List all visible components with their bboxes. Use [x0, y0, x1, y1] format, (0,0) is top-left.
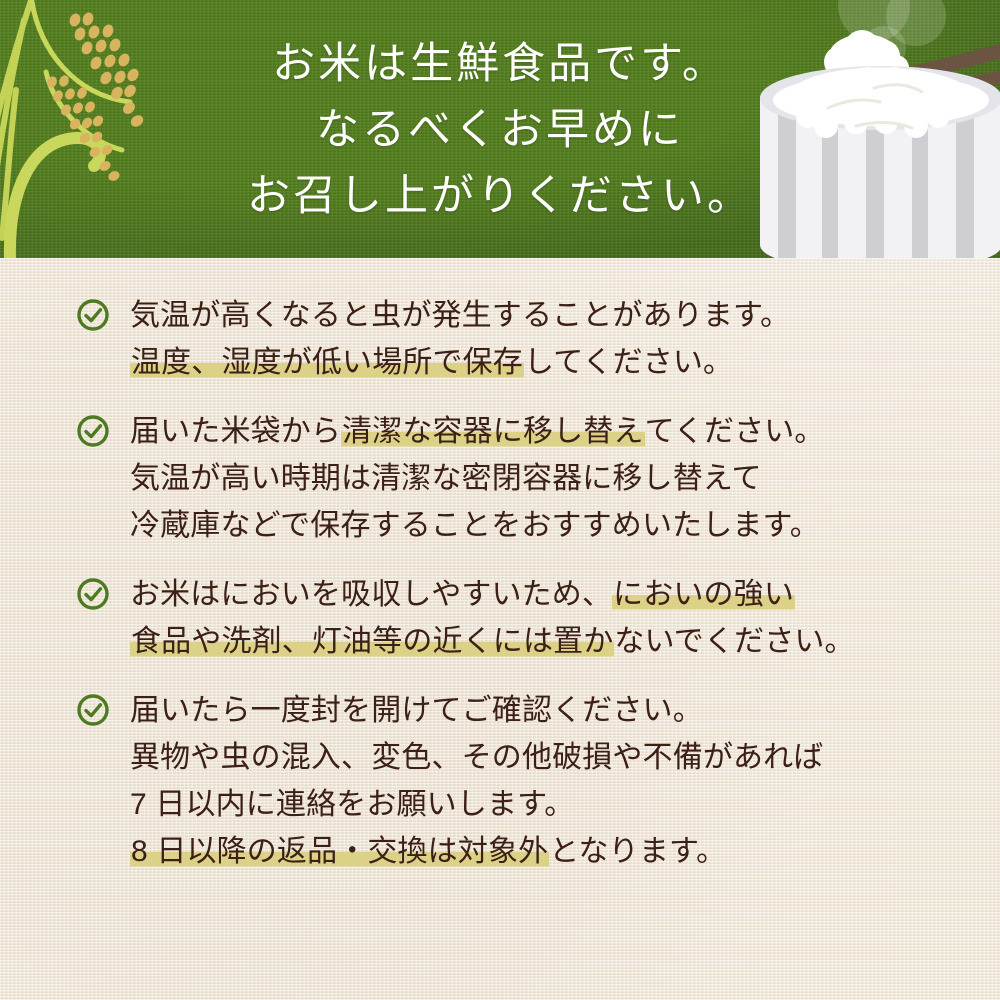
highlighted-text: 8 日以降の返品・交換は対象外	[130, 835, 549, 868]
title-line-3: お召し上がりください。	[210, 164, 790, 230]
title-line-1: お米は生鮮食品です。	[210, 32, 790, 98]
notice-list: 気温が高くなると虫が発生することがあります。温度、湿度が低い場所で保存してくださ…	[0, 258, 1000, 897]
plain-text: てください。	[645, 415, 825, 448]
notice-line: 冷蔵庫などで保存することをおすすめいたします。	[130, 502, 954, 549]
plain-text: 届いた米袋から	[130, 415, 341, 448]
notice-item: お米はにおいを吸収しやすいため、においの強い食品や洗剤、灯油等の近くには置かない…	[76, 571, 954, 665]
plain-text: 異物や虫の混入、変色、その他破損や不備があれば	[130, 741, 823, 774]
check-circle-icon	[76, 298, 110, 332]
check-circle-icon	[76, 414, 110, 448]
plain-text: 7 日以内に連絡をお願いします。	[130, 788, 574, 821]
notice-line: 食品や洗剤、灯油等の近くには置かないでください。	[130, 618, 954, 665]
highlighted-text: 清潔な容器に移し替え	[341, 415, 645, 448]
check-circle-icon	[76, 577, 110, 611]
plain-text: してください。	[524, 346, 733, 379]
title-line-2: なるべくお早めに	[210, 98, 790, 164]
plain-text: 気温が高くなると虫が発生することがあります。	[130, 299, 790, 332]
check-circle-icon	[76, 693, 110, 727]
notice-line: 気温が高くなると虫が発生することがあります。	[130, 292, 954, 339]
plain-text: となります。	[549, 835, 726, 868]
plain-text: 気温が高い時期は清潔な密閉容器に移し替えて	[130, 462, 762, 495]
plain-text: ないでください。	[614, 625, 854, 658]
plain-text: 届いたら一度封を開けてご確認ください。	[130, 694, 703, 727]
notice-line: 届いたら一度封を開けてご確認ください。	[130, 687, 954, 734]
notice-line: 温度、湿度が低い場所で保存してください。	[130, 339, 954, 386]
notice-item: 届いた米袋から清潔な容器に移し替えてください。気温が高い時期は清潔な密閉容器に移…	[76, 408, 954, 549]
notice-item-text: 気温が高くなると虫が発生することがあります。温度、湿度が低い場所で保存してくださ…	[76, 292, 954, 386]
notice-page: お米は生鮮食品です。 なるべくお早めに お召し上がりください。 気温が高くなると…	[0, 0, 1000, 1000]
highlighted-text: においの強い	[612, 578, 795, 611]
notice-item: 届いたら一度封を開けてご確認ください。異物や虫の混入、変色、その他破損や不備があ…	[76, 687, 954, 875]
highlighted-text: 食品や洗剤、灯油等の近くには置か	[130, 625, 614, 658]
header-banner: お米は生鮮食品です。 なるべくお早めに お召し上がりください。	[0, 0, 1000, 258]
notice-item-text: 届いた米袋から清潔な容器に移し替えてください。気温が高い時期は清潔な密閉容器に移…	[76, 408, 954, 549]
plain-text: 冷蔵庫などで保存することをおすすめいたします。	[130, 509, 820, 542]
notice-line: 8 日以降の返品・交換は対象外となります。	[130, 828, 954, 875]
notice-item: 気温が高くなると虫が発生することがあります。温度、湿度が低い場所で保存してくださ…	[76, 292, 954, 386]
notice-line: お米はにおいを吸収しやすいため、においの強い	[130, 571, 954, 618]
page-title: お米は生鮮食品です。 なるべくお早めに お召し上がりください。	[210, 32, 790, 230]
notice-line: 気温が高い時期は清潔な密閉容器に移し替えて	[130, 455, 954, 502]
notice-line: 7 日以内に連絡をお願いします。	[130, 781, 954, 828]
bowl-icon	[760, 66, 1000, 258]
rice-bowl-with-chopsticks-illustration	[756, 0, 1000, 258]
notice-item-text: 届いたら一度封を開けてご確認ください。異物や虫の混入、変色、その他破損や不備があ…	[76, 687, 954, 875]
highlighted-text: 温度、湿度が低い場所で保存	[130, 346, 524, 379]
notice-line: 届いた米袋から清潔な容器に移し替えてください。	[130, 408, 954, 455]
notice-item-text: お米はにおいを吸収しやすいため、においの強い食品や洗剤、灯油等の近くには置かない…	[76, 571, 954, 665]
plain-text: お米はにおいを吸収しやすいため、	[130, 578, 612, 611]
notice-line: 異物や虫の混入、変色、その他破損や不備があれば	[130, 734, 954, 781]
